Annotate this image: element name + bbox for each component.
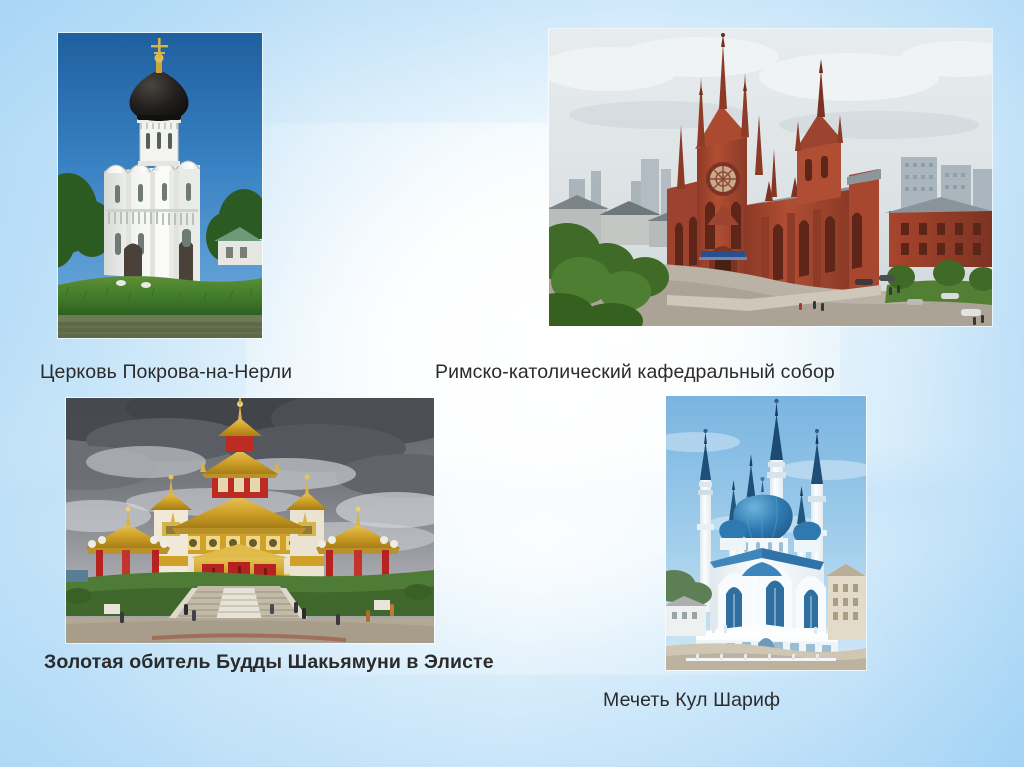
caption-kul-sharif-mosque: Мечеть Кул Шариф — [603, 689, 780, 711]
photo-kul-sharif-mosque — [666, 396, 866, 670]
photo-roman-catholic-cathedral — [549, 29, 992, 326]
presentation-slide: Церковь Покрова-на-Нерли — [0, 0, 1024, 767]
caption-golden-abode-buddha: Золотая обитель Будды Шакьямуни в Элисте — [44, 651, 494, 673]
caption-church-pokrova: Церковь Покрова-на-Нерли — [40, 361, 292, 383]
photo-church-pokrova — [58, 33, 262, 338]
caption-roman-catholic-cathedral: Римско-католический кафедральный собор — [435, 361, 835, 383]
photo-golden-abode-buddha — [66, 398, 434, 643]
